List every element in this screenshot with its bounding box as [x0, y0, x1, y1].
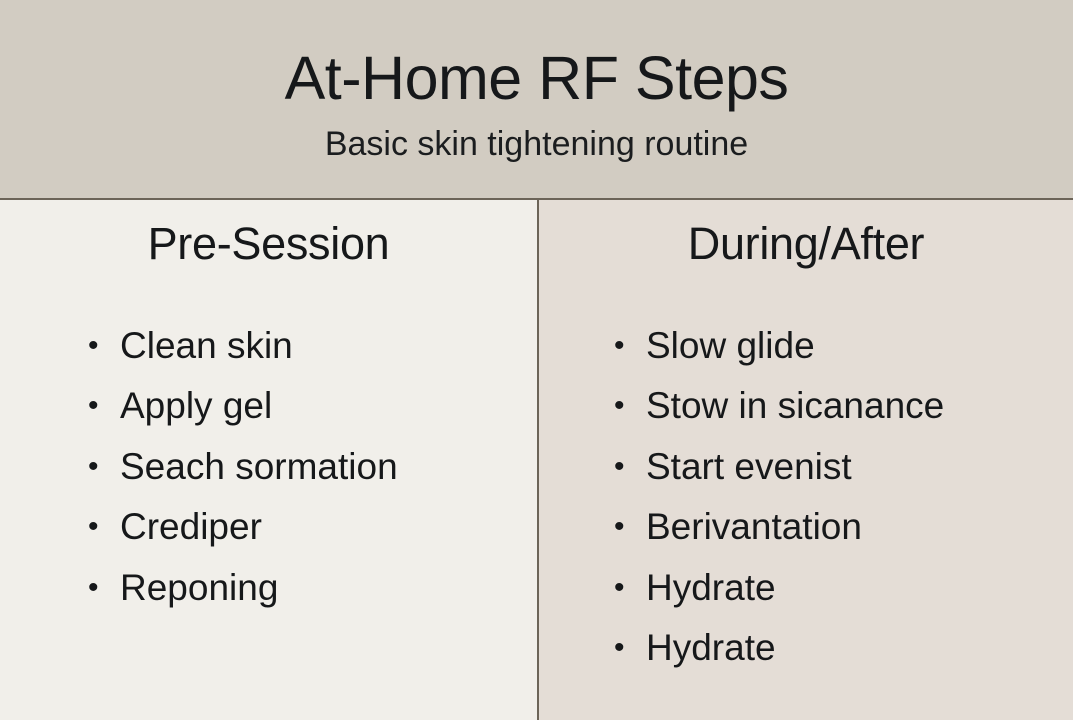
list-item: • Seach sormation [88, 437, 537, 498]
header-band: At-Home RF Steps Basic skin tightening r… [0, 0, 1073, 200]
column-during-after: During/After • Slow glide • Stow in sica… [537, 200, 1073, 720]
page-subtitle: Basic skin tightening routine [325, 110, 748, 163]
list-item: • Reponing [88, 558, 537, 619]
list-item: • Berivantation [614, 497, 1073, 558]
bullet-dot-icon: • [614, 497, 646, 558]
list-item: • Clean skin [88, 316, 537, 377]
bullet-dot-icon: • [88, 316, 120, 377]
list-item: • Hydrate [614, 618, 1073, 679]
bullet-dot-icon: • [614, 437, 646, 498]
bullet-list-during-after: • Slow glide • Stow in sicanance • Start… [539, 270, 1073, 679]
list-item-label: Slow glide [646, 316, 815, 377]
list-item-label: Reponing [120, 558, 278, 619]
bullet-dot-icon: • [614, 376, 646, 437]
list-item: • Crediper [88, 497, 537, 558]
bullet-dot-icon: • [614, 558, 646, 619]
list-item-label: Crediper [120, 497, 262, 558]
list-item: • Apply gel [88, 376, 537, 437]
list-item: • Hydrate [614, 558, 1073, 619]
list-item-label: Start evenist [646, 437, 852, 498]
bullet-dot-icon: • [614, 316, 646, 377]
column-pre-session: Pre-Session • Clean skin • Apply gel • S… [0, 200, 537, 720]
bullet-dot-icon: • [88, 497, 120, 558]
list-item: • Stow in sicanance [614, 376, 1073, 437]
infographic-slide: At-Home RF Steps Basic skin tightening r… [0, 0, 1073, 720]
list-item: • Start evenist [614, 437, 1073, 498]
list-item-label: Clean skin [120, 316, 293, 377]
list-item-label: Seach sormation [120, 437, 398, 498]
column-heading-during-after: During/After [688, 200, 925, 270]
bullet-list-pre-session: • Clean skin • Apply gel • Seach sormati… [0, 270, 537, 619]
bullet-dot-icon: • [88, 437, 120, 498]
list-item-label: Hydrate [646, 558, 776, 619]
list-item-label: Stow in sicanance [646, 376, 944, 437]
column-heading-pre-session: Pre-Session [148, 200, 390, 270]
bullet-dot-icon: • [88, 558, 120, 619]
list-item: • Slow glide [614, 316, 1073, 377]
list-item-label: Berivantation [646, 497, 862, 558]
columns-container: Pre-Session • Clean skin • Apply gel • S… [0, 200, 1073, 720]
page-title: At-Home RF Steps [285, 0, 789, 110]
list-item-label: Hydrate [646, 618, 776, 679]
bullet-dot-icon: • [88, 376, 120, 437]
bullet-dot-icon: • [614, 618, 646, 679]
list-item-label: Apply gel [120, 376, 272, 437]
